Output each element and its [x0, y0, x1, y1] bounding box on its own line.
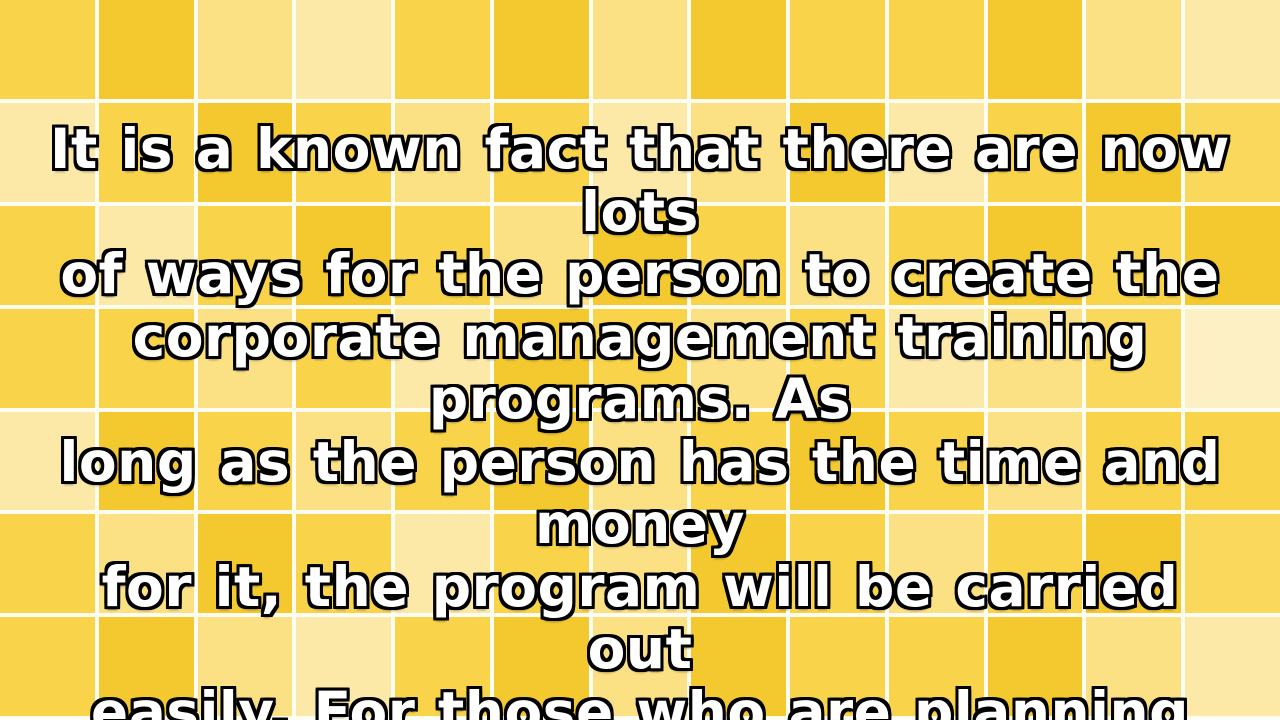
background-tile	[691, 617, 786, 716]
background-tile	[691, 309, 786, 408]
background-tile	[296, 0, 391, 99]
background-tile	[1086, 309, 1181, 408]
background-tile	[889, 514, 984, 613]
background-tile	[790, 0, 885, 99]
background-tile	[494, 514, 589, 613]
background-tile	[790, 412, 885, 511]
background-tile	[1185, 0, 1280, 99]
background-tile	[0, 0, 95, 99]
background-tile	[1086, 617, 1181, 716]
background-tile	[1185, 514, 1280, 613]
background-tile	[0, 103, 95, 202]
background-tile	[1185, 206, 1280, 305]
background-tile	[0, 206, 95, 305]
background-tile	[889, 412, 984, 511]
background-tile	[296, 309, 391, 408]
background-tile	[790, 617, 885, 716]
background-tile	[296, 617, 391, 716]
background-tile	[593, 514, 688, 613]
background-tile	[0, 309, 95, 408]
background-tile	[593, 103, 688, 202]
background-tile	[198, 206, 293, 305]
background-tile	[198, 309, 293, 408]
background-tile	[395, 309, 490, 408]
background-tile	[198, 0, 293, 99]
background-tile	[889, 617, 984, 716]
background-tile	[99, 103, 194, 202]
background-tile	[296, 206, 391, 305]
background-tile	[988, 309, 1083, 408]
background-tile	[593, 617, 688, 716]
background-tile	[99, 206, 194, 305]
background-tile	[593, 309, 688, 408]
background-tile	[790, 206, 885, 305]
background-tile	[889, 206, 984, 305]
background-tile	[0, 412, 95, 511]
background-tile	[0, 617, 95, 716]
background-tile	[494, 103, 589, 202]
background-tile	[1086, 103, 1181, 202]
background-tile	[790, 309, 885, 408]
background-tile	[395, 206, 490, 305]
background-tile	[691, 412, 786, 511]
background-tile	[296, 412, 391, 511]
background-tile	[691, 514, 786, 613]
text-slide: It is a known fact that there are now lo…	[0, 0, 1280, 720]
background-tile	[0, 514, 95, 613]
background-tile	[395, 514, 490, 613]
background-tile	[593, 412, 688, 511]
background-tile	[99, 412, 194, 511]
background-tile	[1086, 412, 1181, 511]
background-tile	[790, 103, 885, 202]
background-tile	[99, 617, 194, 716]
background-tile	[99, 514, 194, 613]
background-tile	[1086, 206, 1181, 305]
background-tile	[494, 412, 589, 511]
background-tile	[1185, 309, 1280, 408]
background-tile	[494, 206, 589, 305]
background-tile	[1185, 412, 1280, 511]
background-tile	[395, 103, 490, 202]
background-tile	[790, 514, 885, 613]
background-tile	[395, 412, 490, 511]
background-tile	[296, 514, 391, 613]
background-tile	[593, 206, 688, 305]
background-tile	[395, 617, 490, 716]
background-tile	[198, 514, 293, 613]
background-tile	[889, 309, 984, 408]
background-tile	[1086, 0, 1181, 99]
background-tile	[198, 617, 293, 716]
background-tile	[889, 0, 984, 99]
background-tile	[1185, 617, 1280, 716]
background-tile	[494, 0, 589, 99]
background-tile	[691, 103, 786, 202]
background-tile	[99, 309, 194, 408]
background-tile	[691, 206, 786, 305]
background-tile	[988, 617, 1083, 716]
background-tile	[198, 103, 293, 202]
background-tile	[691, 0, 786, 99]
background-tile	[988, 514, 1083, 613]
background-tile	[99, 0, 194, 99]
background-tile	[296, 103, 391, 202]
background-tile	[988, 412, 1083, 511]
checkered-tile-background	[0, 0, 1280, 720]
background-tile	[1185, 103, 1280, 202]
background-tile	[988, 103, 1083, 202]
background-tile	[593, 0, 688, 99]
background-tile	[988, 0, 1083, 99]
background-tile	[889, 103, 984, 202]
background-tile	[395, 0, 490, 99]
background-tile	[494, 617, 589, 716]
background-tile	[494, 309, 589, 408]
background-tile	[988, 206, 1083, 305]
background-tile	[1086, 514, 1181, 613]
background-tile	[198, 412, 293, 511]
